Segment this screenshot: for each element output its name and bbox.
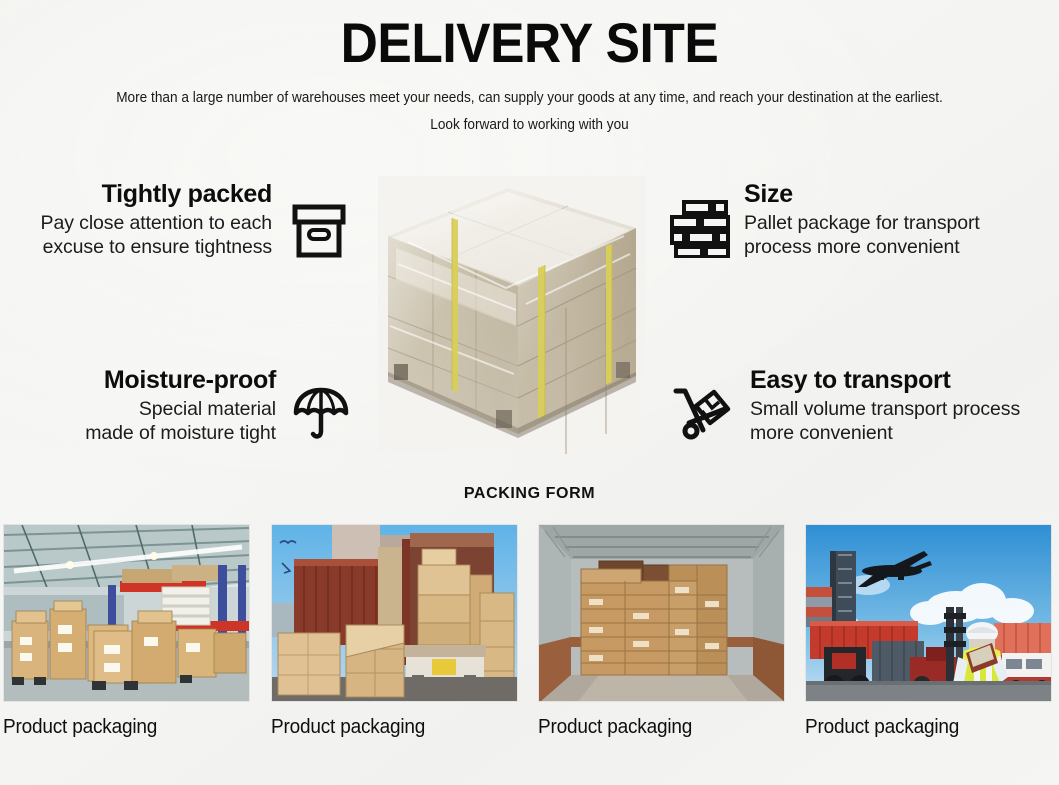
feature-title: Tightly packed <box>0 180 272 209</box>
page-header: DELIVERY SITE More than a large number o… <box>0 0 1059 137</box>
feature-description: Pallet package for transport process mor… <box>744 212 1044 260</box>
warehouse-interior-image[interactable] <box>3 524 250 702</box>
feature-title: Easy to transport <box>750 366 1059 395</box>
gallery-item[interactable]: Product packaging <box>3 524 250 739</box>
feature-tightly-packed: Tightly packed Pay close attention to ea… <box>0 180 350 267</box>
container-loading-image[interactable] <box>271 524 518 702</box>
archive-box-icon <box>288 200 350 267</box>
feature-title: Size <box>744 180 1044 209</box>
packed-container-image[interactable] <box>538 524 785 702</box>
umbrella-icon <box>292 386 350 449</box>
feature-text-block: Tightly packed Pay close attention to ea… <box>0 180 272 259</box>
packing-form-gallery: Product packaging <box>0 524 1059 774</box>
pallet-illustration <box>378 176 646 454</box>
brick-wall-icon <box>668 196 730 263</box>
feature-size: Size Pallet package for transport proces… <box>668 180 1059 263</box>
gallery-caption: Product packaging <box>271 716 506 739</box>
page-title: DELIVERY SITE <box>42 14 1016 73</box>
gallery-item[interactable]: Product packaging <box>271 524 518 739</box>
feature-moisture-proof: Moisture-proof Special material made of … <box>0 366 350 449</box>
packing-form-label: PACKING FORM <box>0 485 1059 503</box>
feature-description: Pay close attention to each excuse to en… <box>0 212 272 260</box>
gallery-caption: Product packaging <box>805 716 1040 739</box>
gallery-caption: Product packaging <box>3 716 238 739</box>
port-logistics-image[interactable] <box>805 524 1052 702</box>
feature-text-block: Moisture-proof Special material made of … <box>0 366 276 445</box>
header-subtitle-line-2: Look forward to working with you <box>32 114 1027 136</box>
header-subtitle-line-1: More than a large number of warehouses m… <box>32 87 1027 109</box>
gallery-item[interactable]: Product packaging <box>805 524 1052 739</box>
feature-description: Special material made of moisture tight <box>0 398 276 446</box>
pallet-package-image <box>378 176 646 454</box>
feature-text-block: Easy to transport Small volume transport… <box>750 366 1059 445</box>
gallery-item[interactable]: Product packaging <box>538 524 785 739</box>
feature-easy-to-transport: Easy to transport Small volume transport… <box>672 366 1059 451</box>
hand-truck-icon <box>672 382 736 451</box>
gallery-caption: Product packaging <box>538 716 773 739</box>
feature-text-block: Size Pallet package for transport proces… <box>744 180 1044 259</box>
feature-description: Small volume transport process more conv… <box>750 398 1059 446</box>
feature-title: Moisture-proof <box>0 366 276 395</box>
